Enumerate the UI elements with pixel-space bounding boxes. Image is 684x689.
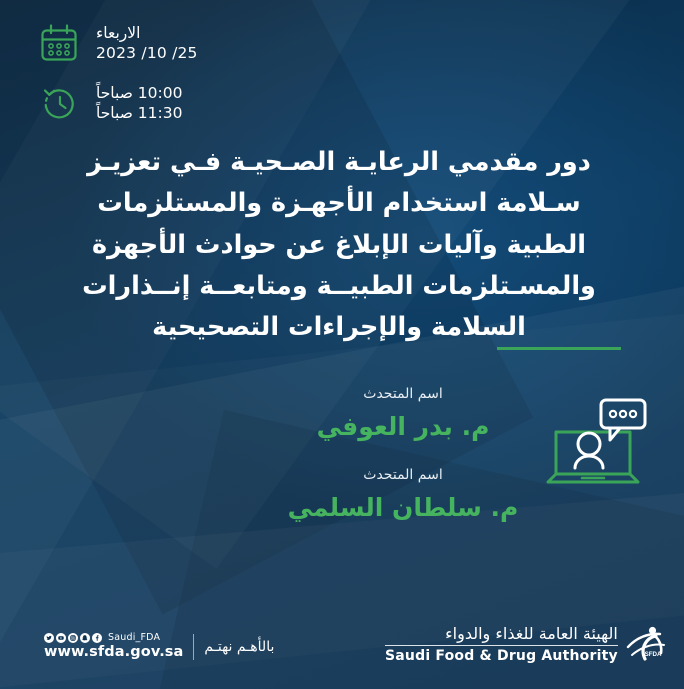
title-line: دور مقدمي الرعايـة الصـحيـة فـي تعزيـز (30, 142, 648, 183)
event-poster: الاربعاء 25/ 10/ 2023 10:00 صباحاً 11:30… (0, 0, 684, 689)
event-title: دور مقدمي الرعايـة الصـحيـة فـي تعزيـز س… (30, 142, 648, 348)
event-time-row: 10:00 صباحاً 11:30 صباحاً (38, 82, 208, 124)
footer-contact: Saudi_FDA www.sfda.gov.sa بالأهـم نهتـم (44, 632, 274, 661)
title-line: سـلامة استخدام الأجهـزة والمستلزمات (30, 183, 648, 224)
title-line: والمسـتلزمات الطبيــة ومتابعــة إنــذارا… (30, 266, 648, 307)
event-meta: الاربعاء 25/ 10/ 2023 10:00 صباحاً 11:30… (38, 22, 208, 124)
sfda-logo-english: Saudi Food & Drug Authority (385, 648, 618, 664)
snapchat-icon[interactable] (80, 633, 90, 643)
title-line: السلامة والإجراءات التصحيحية (30, 307, 648, 348)
twitter-icon[interactable] (44, 633, 54, 643)
sfda-logo-rule (385, 645, 618, 646)
event-time-start: 10:00 صباحاً (96, 83, 182, 103)
youtube-icon[interactable] (56, 633, 66, 643)
tagline: بالأهـم نهتـم (204, 639, 274, 655)
event-time-end: 11:30 صباحاً (96, 103, 182, 123)
social-and-site: Saudi_FDA www.sfda.gov.sa (44, 632, 183, 661)
event-date-row: الاربعاء 25/ 10/ 2023 (38, 22, 208, 64)
sfda-logo: الهيئة العامة للغذاء والدواء Saudi Food … (385, 621, 672, 667)
sfda-logo-mark: SFDA (626, 621, 672, 667)
event-date-text: الاربعاء 25/ 10/ 2023 (96, 23, 198, 63)
webinar-laptop-icon (544, 392, 650, 492)
sfda-logo-arabic: الهيئة العامة للغذاء والدواء (385, 624, 618, 643)
website-url[interactable]: www.sfda.gov.sa (44, 644, 183, 661)
calendar-icon (38, 22, 80, 64)
facebook-icon[interactable] (92, 633, 102, 643)
sfda-logo-text: الهيئة العامة للغذاء والدواء Saudi Food … (385, 624, 618, 664)
social-handle: Saudi_FDA (108, 632, 160, 643)
sfda-mark-label: SFDA (644, 651, 661, 658)
speaker-name: م. سلطان السلمي (156, 493, 650, 522)
event-time-text: 10:00 صباحاً 11:30 صباحاً (96, 83, 182, 123)
social-icons-row: Saudi_FDA (44, 632, 183, 643)
event-day-name: الاربعاء (96, 23, 198, 43)
footer-divider (193, 634, 194, 660)
clock-icon (38, 82, 80, 124)
title-line: الطبية وآليات الإبلاغ عن حوادث الأجهزة (30, 225, 648, 266)
title-divider (497, 347, 621, 350)
event-date-value: 25/ 10/ 2023 (96, 43, 198, 63)
instagram-icon[interactable] (68, 633, 78, 643)
